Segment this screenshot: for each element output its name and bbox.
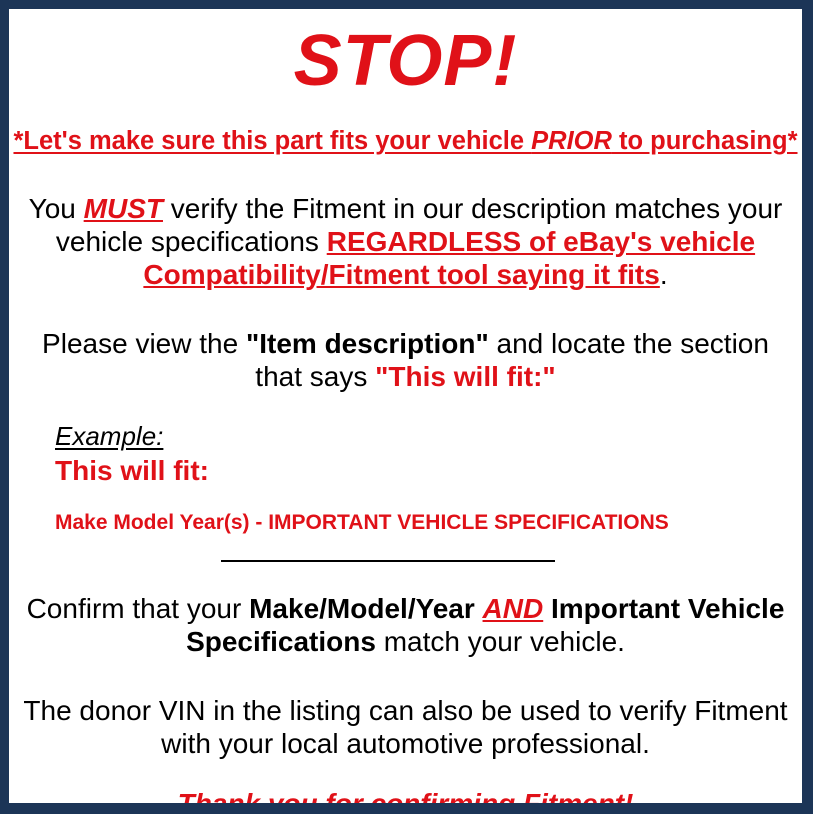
example-spec-line: Make Model Year(s) - IMPORTANT VEHICLE S… [55, 487, 802, 534]
stop-headline: STOP! [9, 9, 802, 97]
subtitle-banner: *Let's make sure this part fits your veh… [9, 97, 802, 156]
item-description-emphasis: "Item description" [246, 328, 489, 359]
must-emphasis: MUST [84, 193, 163, 224]
this-will-fit-quote: "This will fit:" [375, 361, 556, 392]
subtitle-prior-emphasis: PRIOR [531, 127, 612, 155]
view-text-part1: Please view the [42, 328, 246, 359]
closing-thank-you: Thank you for confirming Fitment! [9, 760, 802, 803]
and-emphasis: AND [483, 593, 544, 624]
example-block: Example: This will fit: Make Model Year(… [9, 393, 802, 534]
paragraph-donor-vin: The donor VIN in the listing can also be… [9, 658, 802, 760]
paragraph-item-description: Please view the "Item description" and l… [9, 291, 802, 393]
confirm-text-part1: Confirm that your [27, 593, 250, 624]
confirm-text-part2 [475, 593, 483, 624]
example-label: Example: [55, 423, 802, 450]
example-fit-heading: This will fit: [55, 451, 802, 487]
make-model-year-emphasis: Make/Model/Year [249, 593, 475, 624]
confirm-text-part3 [543, 593, 551, 624]
must-text-part1: You [29, 193, 84, 224]
paragraph-confirm-match: Confirm that your Make/Model/Year AND Im… [9, 562, 802, 658]
paragraph-must-verify: You MUST verify the Fitment in our descr… [9, 156, 802, 291]
must-text-part3: . [660, 259, 668, 290]
subtitle-tail-text: to purchasing* [612, 127, 798, 155]
section-divider-wrapper [9, 534, 802, 562]
fitment-notice-card: STOP! *Let's make sure this part fits yo… [9, 9, 802, 803]
notice-border-frame: STOP! *Let's make sure this part fits yo… [0, 0, 813, 814]
subtitle-lead-text: *Let's make sure this part fits your veh… [13, 127, 531, 155]
confirm-text-part4: match your vehicle. [376, 626, 625, 657]
